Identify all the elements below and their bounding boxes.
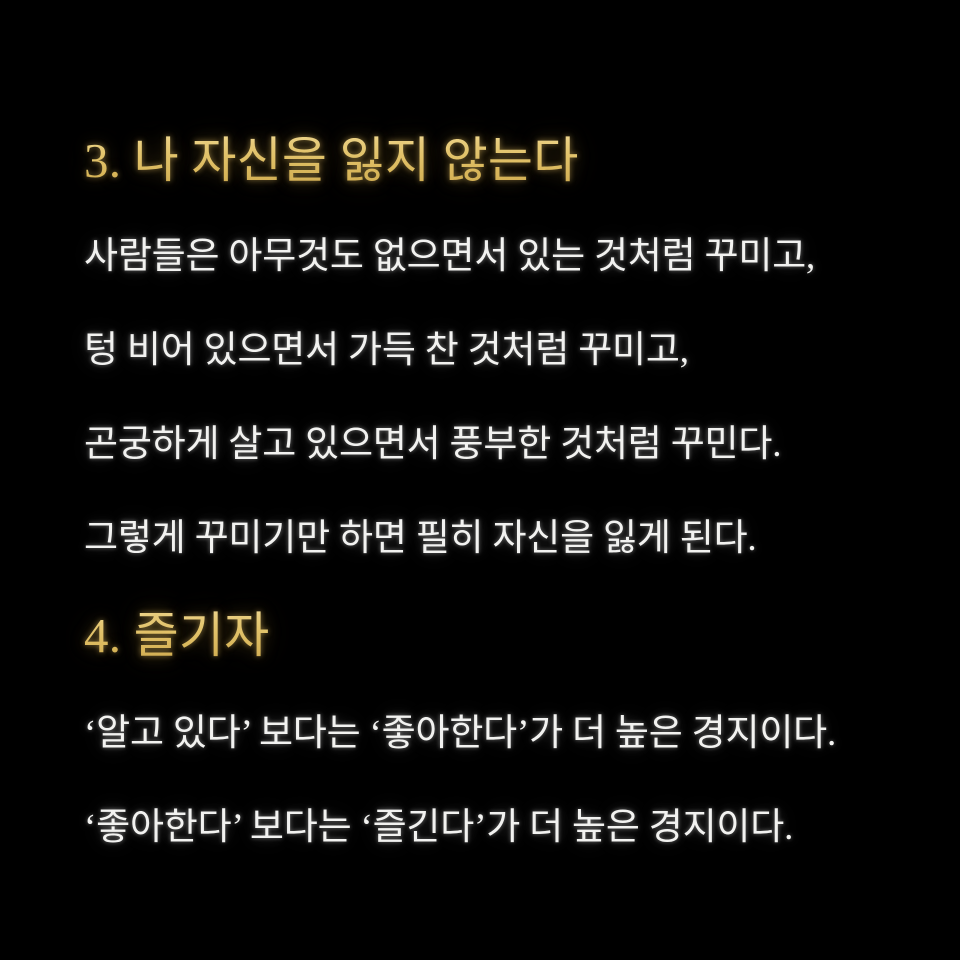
section-3-heading-wrap: 3. 나 자신을 잃지 않는다 — [84, 132, 920, 190]
section-3-heading: 3. 나 자신을 잃지 않는다 — [84, 132, 920, 190]
section-4-body: ‘알고 있다’ 보다는 ‘좋아한다’가 더 높은 경지이다. ‘좋아한다’ 보다… — [84, 705, 920, 856]
section-4: 4. 즐기자 ‘알고 있다’ 보다는 ‘좋아한다’가 더 높은 경지이다. ‘좋… — [84, 607, 920, 893]
section-3-body-line-4: 그렇게 꾸미기만 하면 필히 자신을 잃게 된다. — [84, 510, 920, 567]
section-3-body-line-3: 곤궁하게 살고 있으면서 풍부한 것처럼 꾸민다. — [84, 416, 920, 473]
section-4-body-line-1: ‘알고 있다’ 보다는 ‘좋아한다’가 더 높은 경지이다. — [84, 705, 920, 762]
section-4-body-line-2: ‘좋아한다’ 보다는 ‘즐긴다’가 더 높은 경지이다. — [84, 799, 920, 856]
section-3-body-line-2: 텅 비어 있으면서 가득 찬 것처럼 꾸미고, — [84, 322, 920, 379]
section-4-heading: 4. 즐기자 — [84, 607, 920, 665]
section-3: 3. 나 자신을 잃지 않는다 사람들은 아무것도 없으면서 있는 것처럼 꾸미… — [84, 132, 920, 604]
section-3-body: 사람들은 아무것도 없으면서 있는 것처럼 꾸미고, 텅 비어 있으면서 가득 … — [84, 228, 920, 567]
quote-card: 3. 나 자신을 잃지 않는다 사람들은 아무것도 없으면서 있는 것처럼 꾸미… — [0, 0, 960, 960]
section-4-heading-wrap: 4. 즐기자 — [84, 607, 920, 665]
section-3-body-line-1: 사람들은 아무것도 없으면서 있는 것처럼 꾸미고, — [84, 228, 920, 285]
